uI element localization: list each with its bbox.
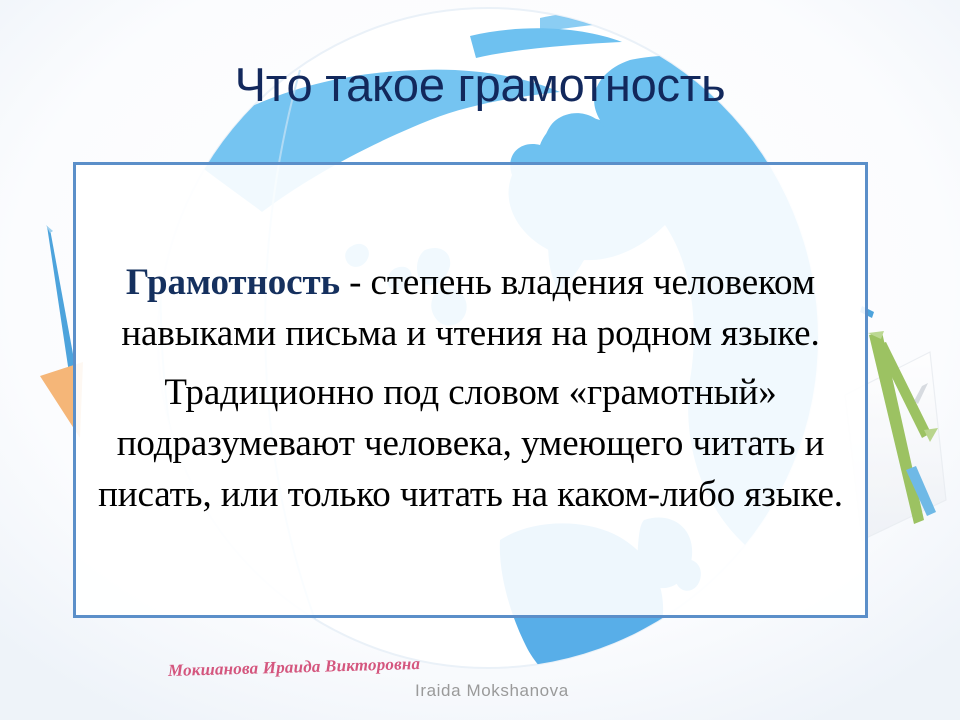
page-title: Что такое грамотность [0,57,960,113]
signature-english: Iraida Mokshanova [415,680,569,702]
term-gramotnost: Грамотность [126,262,340,303]
signature-russian: Мокшанова Ираида Викторовна [168,653,421,682]
pencil-grey-icon [914,383,928,404]
pencil-green-icon [868,331,938,524]
definition-textbox: Грамотность - степень владения человеком… [73,162,868,618]
definition-paragraph-1: Грамотность - степень владения человеком… [98,257,843,359]
definition-paragraph-2: Традиционно под словом «грамотный» подра… [98,367,843,520]
pencil-blue-small-icon [860,306,936,516]
presentation-slide: Что такое грамотность Грамотность - степ… [0,0,960,720]
